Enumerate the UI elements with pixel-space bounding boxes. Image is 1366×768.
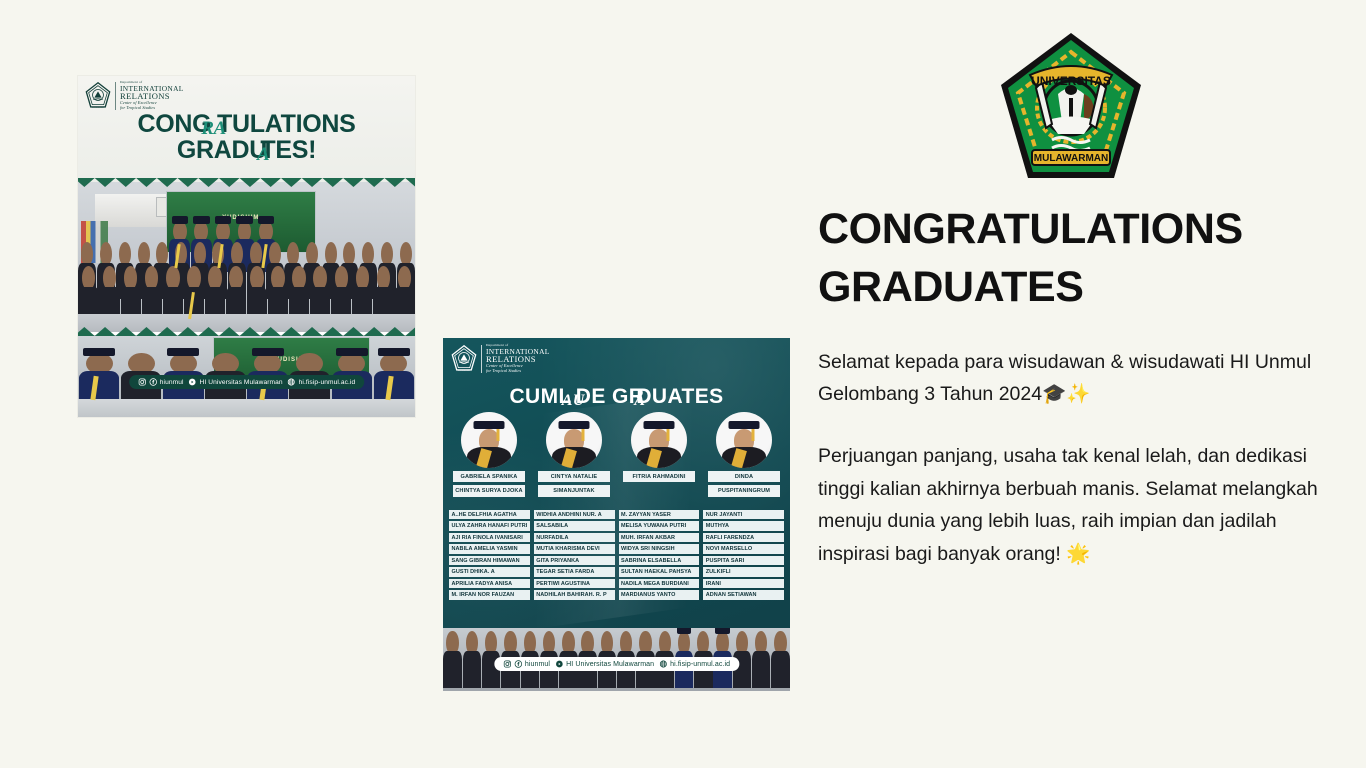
graduate-name: A..HE DELFHIA AGATHA (449, 510, 530, 519)
graduate-name: SALSABILA (534, 521, 615, 530)
youtube-icon[interactable] (555, 660, 563, 668)
facebook-icon[interactable] (514, 660, 522, 668)
graduation-group-photo: YUDISIUM (78, 182, 415, 332)
graduate-name: NADILA MEGA BURDIANI (619, 579, 700, 588)
portrait-photo (631, 412, 687, 468)
graduate-name: TEGAR SETIA FARDA (534, 567, 615, 576)
graduate-name-columns: A..HE DELFHIA AGATHA ULYA ZAHRA HANAFI P… (449, 510, 784, 602)
headline-line-2: GRADUATES (818, 263, 1084, 311)
youtube-channel-two: HI Universitas Mulawarman (566, 661, 654, 668)
message-paragraph: Perjuangan panjang, usaha tak kenal lela… (818, 440, 1318, 569)
graduate-name: SANG GIBRAN HIMAWAN (449, 556, 530, 565)
cumlaude-name-line1: CINTYA NATALIE (538, 471, 610, 482)
ir-logo-text-two: Department of INTERNATIONAL RELATIONS Ce… (486, 344, 550, 373)
title-script-1: RA (201, 118, 226, 139)
graduate-name-column: NUR JAYANTI MUTHYA RAFLI FARENDZA NOVI M… (703, 510, 784, 602)
graduate-name: NUR JAYANTI (703, 510, 784, 519)
graduate-name: ADNAN SETIAWAN (703, 590, 784, 599)
cumlaude-portrait: DINDA PUSPITANINGRUM (708, 412, 780, 497)
headline-line-1: CONGRATULATIONS (818, 205, 1243, 253)
ir-department-logo: UNIVERSITAS Department of INTERNATIONAL … (85, 81, 184, 110)
university-crest-icon: UNIVERSITAS MULAWARMAN (996, 28, 1146, 186)
graduate-name: ZULKIFLI (703, 567, 784, 576)
graduate-name: GUSTI DHIKA. A (449, 567, 530, 576)
graduate-name: RAFLI FARENDZA (703, 533, 784, 542)
cumlaude-name-line1: DINDA (708, 471, 780, 482)
graduate-name: NABILA AMELIA YASMIN (449, 544, 530, 553)
poster-one-title: CONGRATULATIONS GRADUATES! (78, 112, 415, 163)
cumlaude-name-line1: GABRIELA SPANIKA (453, 471, 525, 482)
graduate-name: SABRINA ELSABELLA (619, 556, 700, 565)
p2-title-seg-3: DUATES (636, 385, 723, 408)
portrait-photo (546, 412, 602, 468)
logo-divider (115, 82, 116, 110)
graduate-name: MELISA YUWANA PUTRI (619, 521, 700, 530)
graduate-name: MARDIANUS YANTO (619, 590, 700, 599)
ir-logo-text: Department of INTERNATIONAL RELATIONS Ce… (120, 81, 184, 110)
youtube-group-two[interactable]: HI Universitas Mulawarman (555, 660, 654, 668)
cumlaude-portrait: CINTYA NATALIE SIMANJUNTAK (538, 412, 610, 497)
svg-text:MULAWARMAN: MULAWARMAN (1034, 153, 1108, 164)
cumlaude-name-line2: SIMANJUNTAK (538, 485, 610, 496)
globe-icon[interactable] (659, 660, 667, 668)
graduate-name: AJI RIA FINOLA IVANISARI (449, 533, 530, 542)
portrait-photo (461, 412, 517, 468)
graduate-name: PERTIWI AGUSTINA (534, 579, 615, 588)
graduate-name: MUTIA KHARISMA DEVI (534, 544, 615, 553)
instagram-icon[interactable] (503, 660, 511, 668)
intro-paragraph: Selamat kepada para wisudawan & wisudawa… (818, 346, 1318, 411)
cumlaude-portrait: FITRIA RAHMADINI (623, 412, 695, 497)
graduate-name: M. IRFAN NOR FAUZAN (449, 590, 530, 599)
graduate-name: M. ZAYYAN YASER (619, 510, 700, 519)
graduate-name-column: WIDHIA ANDHINI NUR. A SALSABILA NURFADIL… (534, 510, 615, 602)
graduate-name: PUSPITA SARI (703, 556, 784, 565)
graduate-name: WIDHIA ANDHINI NUR. A (534, 510, 615, 519)
graduate-name: SULTAN HAEKAL PAHSYA (619, 567, 700, 576)
p2-title-script-2: A (634, 392, 645, 409)
graduate-name: MUTHYA (703, 521, 784, 530)
unmul-crest-icon-two: UNIVERSITAS (451, 345, 477, 372)
title-seg-2: TULATIONS (217, 110, 356, 138)
unmul-crest-icon: UNIVERSITAS (85, 82, 111, 109)
website-url-two: hi.fisip-unmul.ac.id (670, 661, 730, 668)
cumlaude-portrait-list: GABRIELA SPANIKA CHINTYA SURYA DJOKA CIN… (453, 412, 780, 497)
page-title: CONGRATULATIONS GRADUATES (818, 200, 1328, 317)
p2-title-script-1: AU (562, 392, 585, 409)
graduate-name: ULYA ZAHRA HANAFI PUTRI (449, 521, 530, 530)
poster-one-title-line2: GRADUATES! (78, 138, 415, 164)
graduate-name: IRANI (703, 579, 784, 588)
graduate-name-column: A..HE DELFHIA AGATHA ULYA ZAHRA HANAFI P… (449, 510, 530, 602)
portrait-photo (716, 412, 772, 468)
graduate-name-column: M. ZAYYAN YASER MELISA YUWANA PUTRI MUH.… (619, 510, 700, 602)
website-group-two[interactable]: hi.fisip-unmul.ac.id (659, 660, 730, 668)
poster-two-title: CUMLAUDE GRADUATES (443, 385, 790, 409)
graduate-name: NURFADILA (534, 533, 615, 542)
poster-cumlaude-graduates[interactable]: UNIVERSITAS Department of INTERNATIONAL … (443, 338, 790, 691)
graduate-name: NOVI MARSELLO (703, 544, 784, 553)
instagram-facebook-group-two[interactable]: hiunmul (503, 660, 550, 668)
cumlaude-name-line2: CHINTYA SURYA DJOKA (453, 485, 525, 496)
logo-divider-two (481, 345, 482, 373)
title-seg-3: GRADU (177, 136, 267, 164)
svg-text:UNIVERSITAS: UNIVERSITAS (1031, 74, 1111, 88)
ir-sub-line-2-two: for Tropical Studies (486, 369, 550, 373)
poster-two-footer: hiunmul HI Universitas Mulawarman hi.fis… (443, 628, 790, 691)
graduate-name: MUH. IRFAN AKBAR (619, 533, 700, 542)
graduate-name: GITA PRIYANKA (534, 556, 615, 565)
poster-congratulations-graduates[interactable]: UNIVERSITAS Department of INTERNATIONAL … (78, 76, 415, 417)
graduate-name: NADHILAH BAHIRAH. R. P (534, 590, 615, 599)
ir-department-logo-two: UNIVERSITAS Department of INTERNATIONAL … (451, 344, 550, 373)
cumlaude-name-line2: PUSPITANINGRUM (708, 485, 780, 496)
cumlaude-portrait: GABRIELA SPANIKA CHINTYA SURYA DJOKA (453, 412, 525, 497)
graduation-ceremony-photo-strip: YUDISIUM (78, 335, 415, 417)
instagram-handle-two: hiunmul (525, 661, 550, 668)
title-script-2: A (257, 144, 269, 165)
right-content-column: UNIVERSITAS MULAWARMAN CONGRATULATIONS G… (818, 28, 1328, 589)
graduate-name: APRILIA FADYA ANISA (449, 579, 530, 588)
social-links-bar-two[interactable]: hiunmul HI Universitas Mulawarman hi.fis… (494, 657, 739, 671)
cumlaude-name-line1: FITRIA RAHMADINI (623, 471, 695, 482)
graduate-name: WIDYA SRI NINGSIH (619, 544, 700, 553)
